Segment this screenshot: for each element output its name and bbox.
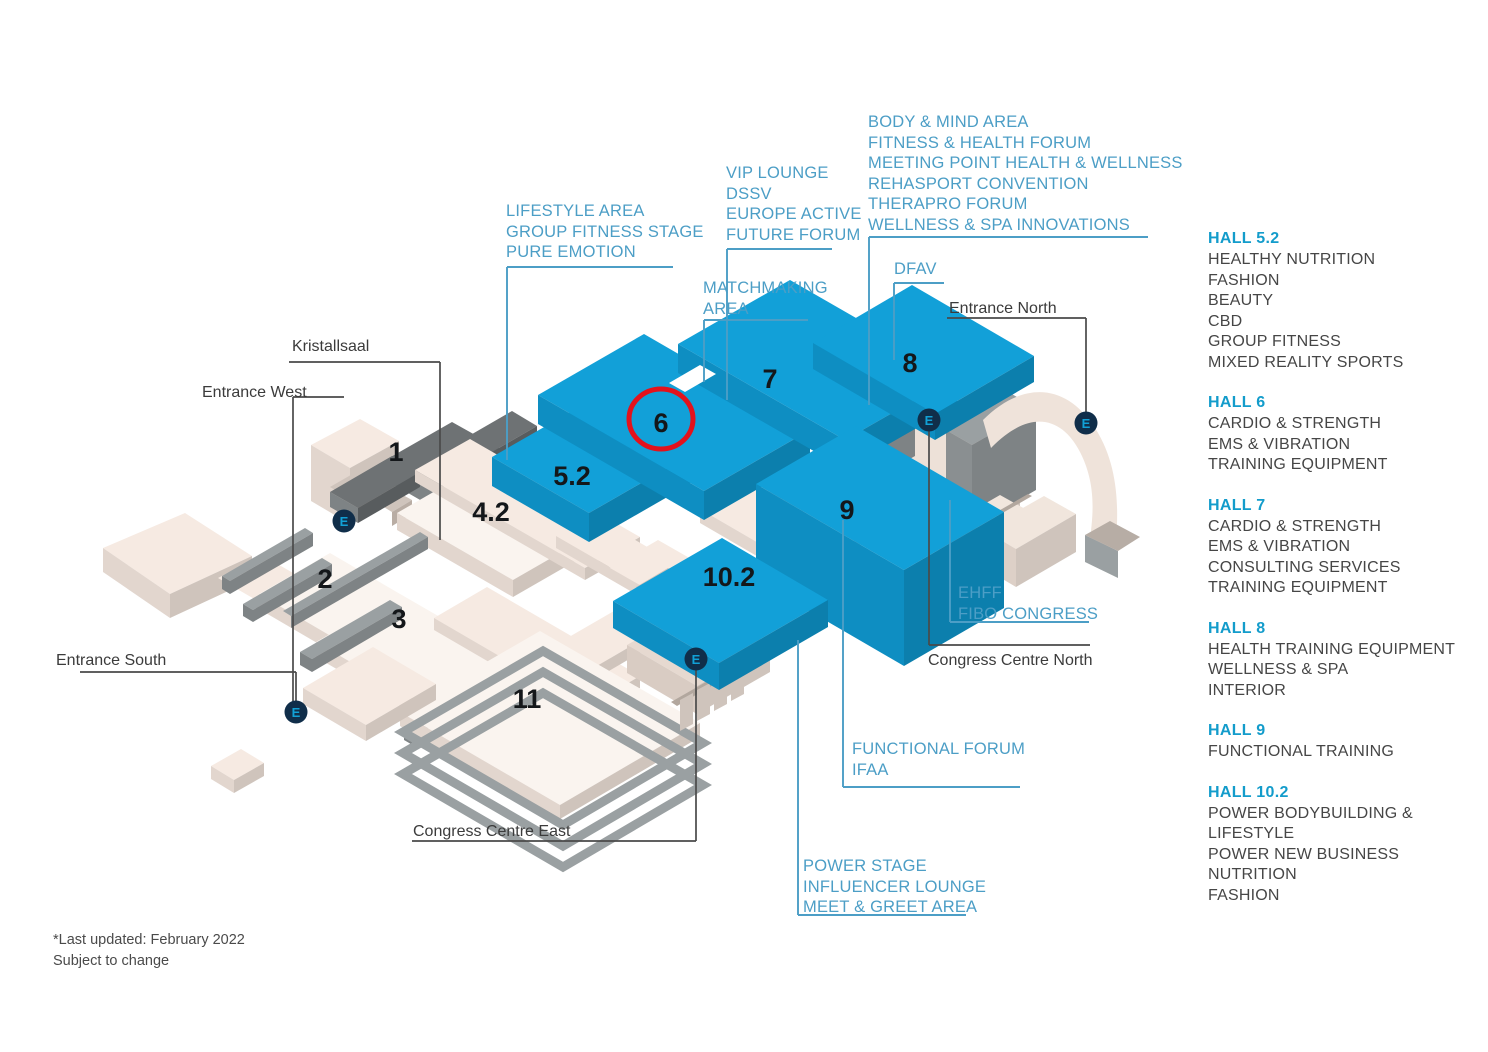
legend-item: BEAUTY <box>1208 291 1470 312</box>
legend-title: HALL 7 <box>1208 495 1470 516</box>
legend-item: NUTRITION <box>1208 865 1470 886</box>
legend-title: HALL 9 <box>1208 720 1470 741</box>
legend-item: FASHION <box>1208 886 1470 907</box>
hall-label-2: 2 <box>317 564 332 594</box>
legend-item: LIFESTYLE <box>1208 824 1470 845</box>
last-updated-note: *Last updated: February 2022 Subject to … <box>53 930 245 972</box>
callout-functional-forum: FUNCTIONAL FORUM IFAA <box>852 739 1025 780</box>
legend-title: HALL 6 <box>1208 392 1470 413</box>
legend-title: HALL 10.2 <box>1208 782 1470 803</box>
callout-vip-lounge: VIP LOUNGE DSSV EUROPE ACTIVE FUTURE FOR… <box>726 163 862 245</box>
hall-label-7: 7 <box>762 364 777 394</box>
legend-item: GROUP FITNESS <box>1208 332 1470 353</box>
legend-item: POWER BODYBUILDING & <box>1208 804 1470 825</box>
legend-item: HEALTH TRAINING EQUIPMENT <box>1208 640 1470 661</box>
floorplan-page: 1 2 3 4.2 5.2 6 7 8 9 10.2 11 <box>0 0 1488 1052</box>
callout-lifestyle-area: LIFESTYLE AREA GROUP FITNESS STAGE PURE … <box>506 201 704 263</box>
legend-item: CONSULTING SERVICES <box>1208 558 1470 579</box>
entrance-marker-east[interactable]: E <box>685 648 708 671</box>
legend-item: INTERIOR <box>1208 681 1470 702</box>
callout-kristallsaal: Kristallsaal <box>292 337 369 357</box>
hall-label-6: 6 <box>653 408 668 438</box>
legend-block: HALL 8HEALTH TRAINING EQUIPMENTWELLNESS … <box>1208 618 1470 702</box>
legend-block: HALL 7CARDIO & STRENGTHEMS & VIBRATIONCO… <box>1208 495 1470 599</box>
callout-power-stage: POWER STAGE INFLUENCER LOUNGE MEET & GRE… <box>803 856 986 918</box>
entrance-marker-north[interactable]: E <box>1075 412 1098 435</box>
entrance-marker-congress-north[interactable]: E <box>918 409 941 432</box>
hall-label-5-2: 5.2 <box>553 461 591 491</box>
entrance-marker-south[interactable]: E <box>285 701 308 724</box>
callout-congress-centre-north: Congress Centre North <box>928 651 1093 671</box>
legend-block: HALL 5.2HEALTHY NUTRITIONFASHIONBEAUTYCB… <box>1208 228 1470 373</box>
legend-item: CARDIO & STRENGTH <box>1208 414 1470 435</box>
legend-item: FASHION <box>1208 271 1470 292</box>
legend-item: FUNCTIONAL TRAINING <box>1208 742 1470 763</box>
hall-label-4-2: 4.2 <box>472 497 510 527</box>
callout-ehff-fibo-congress: EHFF FIBO CONGRESS <box>958 583 1098 624</box>
svg-text:E: E <box>292 705 301 720</box>
hall-label-8: 8 <box>902 348 917 378</box>
callout-dfav: DFAV <box>894 259 937 280</box>
legend-block: HALL 10.2POWER BODYBUILDING &LIFESTYLEPO… <box>1208 782 1470 907</box>
callout-entrance-south: Entrance South <box>56 651 166 671</box>
legend-block: HALL 9FUNCTIONAL TRAINING <box>1208 720 1470 763</box>
hall-legend: HALL 5.2HEALTHY NUTRITIONFASHIONBEAUTYCB… <box>1208 228 1470 925</box>
svg-text:E: E <box>1082 416 1091 431</box>
legend-item: TRAINING EQUIPMENT <box>1208 455 1470 476</box>
legend-item: POWER NEW BUSINESS <box>1208 845 1470 866</box>
legend-item: TRAINING EQUIPMENT <box>1208 578 1470 599</box>
legend-item: HEALTHY NUTRITION <box>1208 250 1470 271</box>
legend-item: EMS & VIBRATION <box>1208 537 1470 558</box>
hall-label-10-2: 10.2 <box>703 562 756 592</box>
svg-text:E: E <box>692 652 701 667</box>
callout-congress-centre-east: Congress Centre East <box>413 822 570 842</box>
callout-body-mind-area: BODY & MIND AREA FITNESS & HEALTH FORUM … <box>868 112 1183 235</box>
legend-title: HALL 8 <box>1208 618 1470 639</box>
hall-label-3: 3 <box>391 604 406 634</box>
building-small-southwest <box>211 749 264 793</box>
legend-item: MIXED REALITY SPORTS <box>1208 353 1470 374</box>
svg-text:E: E <box>925 413 934 428</box>
callout-entrance-west: Entrance West <box>202 383 307 403</box>
callout-matchmaking-area: MATCHMAKING AREA <box>703 278 828 319</box>
legend-item: CBD <box>1208 312 1470 333</box>
callout-entrance-north: Entrance North <box>949 299 1057 319</box>
legend-block: HALL 6CARDIO & STRENGTHEMS & VIBRATIONTR… <box>1208 392 1470 476</box>
entrance-marker-west[interactable]: E <box>333 510 356 533</box>
legend-item: WELLNESS & SPA <box>1208 660 1470 681</box>
svg-text:E: E <box>340 514 349 529</box>
hall-label-11: 11 <box>513 684 542 714</box>
hall-label-9: 9 <box>839 495 854 525</box>
legend-title: HALL 5.2 <box>1208 228 1470 249</box>
hall-label-1: 1 <box>388 437 403 467</box>
legend-item: CARDIO & STRENGTH <box>1208 517 1470 538</box>
legend-item: EMS & VIBRATION <box>1208 435 1470 456</box>
